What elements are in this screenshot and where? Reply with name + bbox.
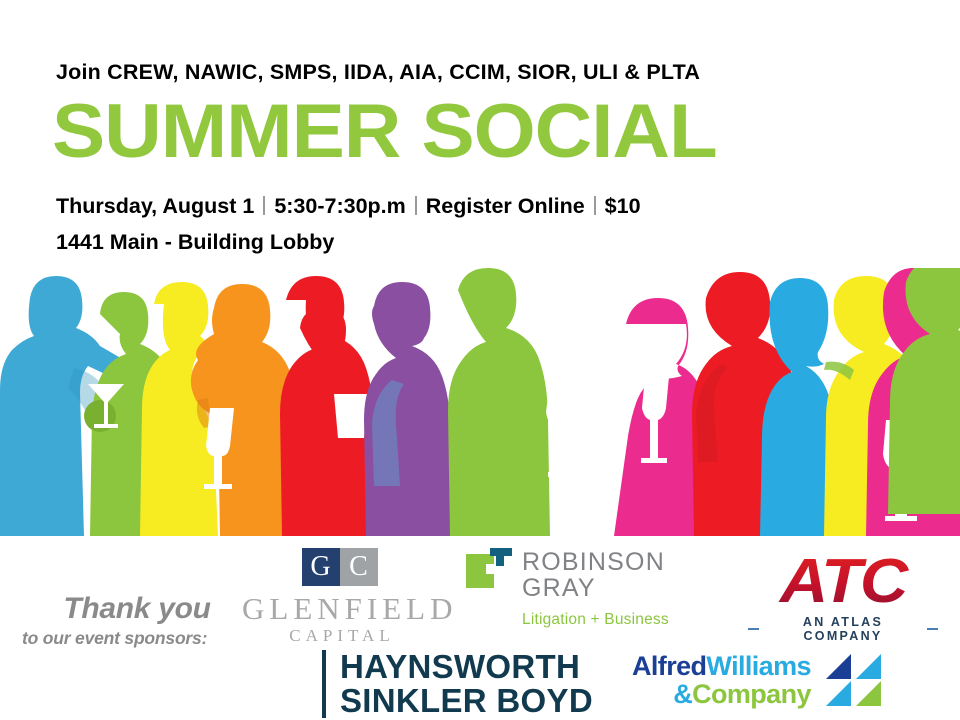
event-time: 5:30-7:30p.m xyxy=(274,194,405,219)
alfred-williams-line-1: AlfredWilliams xyxy=(632,652,811,680)
thank-you-subtext: to our event sponsors: xyxy=(22,627,252,649)
sponsor-logo-haynsworth-sinkler-boyd: HAYNSWORTH SINKLER BOYD xyxy=(322,650,593,718)
thank-you-heading: Thank you xyxy=(22,592,252,626)
alfred-williams-line-2: &Company xyxy=(632,680,811,708)
crowd-silhouette-illustration xyxy=(0,268,960,536)
separator-bar xyxy=(594,196,596,215)
glenfield-gc-mark: G C xyxy=(237,548,442,586)
glenfield-subtitle: CAPITAL xyxy=(237,626,442,646)
sponsor-logo-alfred-williams: AlfredWilliams &Company xyxy=(632,652,885,708)
gray-line: GRAY xyxy=(522,575,665,601)
alfred-williams-triangles-icon xyxy=(821,652,885,708)
separator-bar xyxy=(415,196,417,215)
drink-cup-icon xyxy=(334,394,368,438)
atc-dash-right-icon xyxy=(927,628,938,630)
page-title: SUMMER SOCIAL xyxy=(52,94,717,170)
atc-tagline: AN ATLAS COMPANY xyxy=(762,615,924,643)
glenfield-g-box: G xyxy=(302,548,340,586)
ampersand-word: & xyxy=(673,679,692,709)
glenfield-c-box: C xyxy=(340,548,378,586)
separator-bar xyxy=(263,196,265,215)
silhouette-figure-purple xyxy=(364,282,452,536)
organizations-line: Join CREW, NAWIC, SMPS, IIDA, AIA, CCIM,… xyxy=(56,60,700,85)
robinson-gray-wordmark: ROBINSON GRAY xyxy=(522,548,665,601)
sponsor-logo-robinson-gray: ROBINSON GRAY Litigation + Business xyxy=(466,548,706,629)
glenfield-wordmark: GLENFIELD xyxy=(237,592,442,626)
event-price: $10 xyxy=(605,194,641,219)
thank-you-block: Thank you to our event sponsors: xyxy=(22,592,252,649)
atc-wordmark: ATC xyxy=(740,551,945,613)
sponsor-logo-atc: ATC AN ATLAS COMPANY xyxy=(748,551,938,643)
atc-dash-left-icon xyxy=(748,628,759,630)
alfred-word: Alfred xyxy=(632,651,706,681)
haynsworth-line-1: HAYNSWORTH xyxy=(340,650,593,684)
register-link[interactable]: Register Online xyxy=(426,194,585,219)
event-details-line: Thursday, August 1 5:30-7:30p.m Register… xyxy=(56,194,641,219)
robinson-gray-mark-icon xyxy=(466,548,512,594)
robinson-line: ROBINSON xyxy=(522,549,665,575)
event-location: 1441 Main - Building Lobby xyxy=(56,230,334,255)
haynsworth-rule-divider xyxy=(322,650,326,718)
company-word: Company xyxy=(692,679,811,709)
event-date: Thursday, August 1 xyxy=(56,194,254,219)
haynsworth-line-2: SINKLER BOYD xyxy=(340,684,593,718)
sponsor-logo-glenfield-capital: G C GLENFIELD CAPITAL xyxy=(237,548,442,646)
robinson-gray-tagline: Litigation + Business xyxy=(522,611,706,629)
williams-word: Williams xyxy=(706,651,811,681)
silhouette-figure-green-2 xyxy=(448,268,550,536)
wine-glass-icon xyxy=(546,380,584,477)
